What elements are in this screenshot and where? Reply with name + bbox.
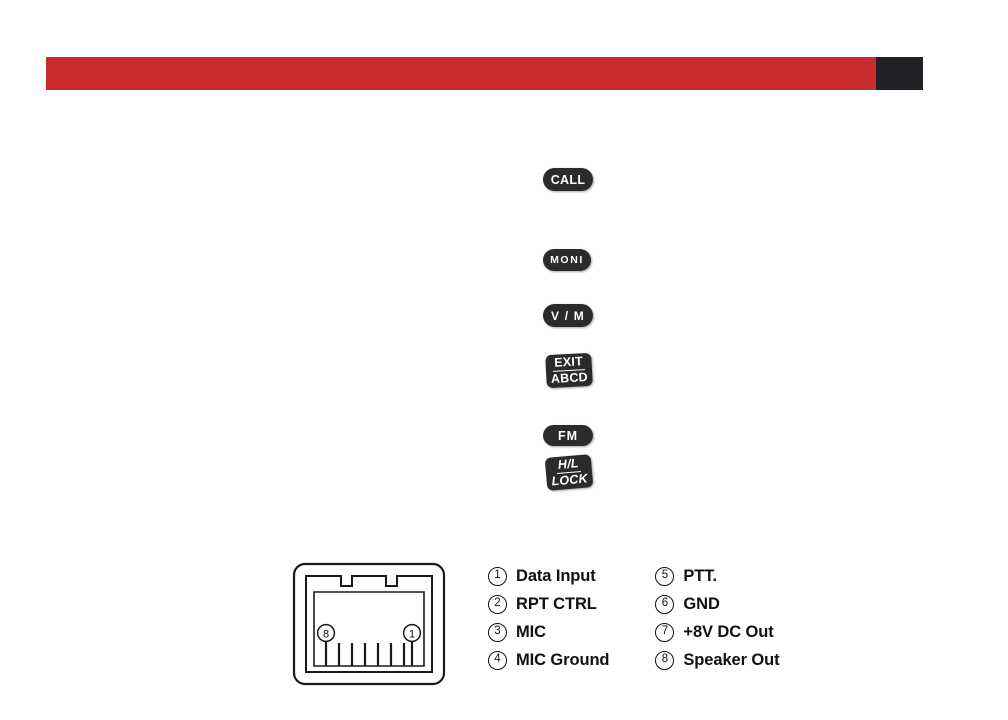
pin-label: +8V DC Out [683, 623, 773, 642]
key-vm-button[interactable]: V / M [543, 304, 593, 327]
rj45-pin-number-1: 1 [404, 625, 421, 642]
key-vm-label: V / M [551, 309, 585, 323]
key-lock-label: LOCK [551, 471, 588, 488]
pin-label: RPT CTRL [516, 595, 597, 614]
key-moni-button[interactable]: MONI [543, 249, 591, 271]
pin-label: MIC [516, 623, 546, 642]
pin-label: Speaker Out [683, 651, 779, 670]
pin-number-badge: 5 [655, 567, 674, 586]
pin-label: GND [683, 595, 719, 614]
pin-number-badge: 4 [488, 651, 507, 670]
rj45-connector-diagram: 8 1 [292, 562, 446, 686]
pin-legend-item: 7 +8V DC Out [655, 621, 779, 643]
header-dark-block [876, 57, 923, 90]
pin-label: PTT. [683, 567, 717, 586]
pin-legend-item: 8 Speaker Out [655, 649, 779, 671]
key-moni-label: MONI [550, 254, 584, 266]
pin-label: Data Input [516, 567, 596, 586]
pin-legend-left-column: 1 Data Input 2 RPT CTRL 3 MIC 4 MIC Grou… [488, 565, 609, 671]
pin-legend-item: 1 Data Input [488, 565, 609, 587]
key-abcd-label: ABCD [551, 370, 589, 386]
header-red-bar [46, 57, 876, 90]
pin-legend-item: 4 MIC Ground [488, 649, 609, 671]
rj45-pin-number-8: 8 [318, 625, 335, 642]
pin-number-badge: 8 [655, 651, 674, 670]
pin-number-badge: 3 [488, 623, 507, 642]
rj45-pin-1-text: 1 [409, 629, 415, 641]
key-hl-lock-button[interactable]: H/L LOCK [545, 454, 594, 491]
pin-number-badge: 2 [488, 595, 507, 614]
pin-legend-item: 6 GND [655, 593, 779, 615]
pin-legend: 1 Data Input 2 RPT CTRL 3 MIC 4 MIC Grou… [488, 565, 780, 671]
pin-number-badge: 1 [488, 567, 507, 586]
pin-number-badge: 7 [655, 623, 674, 642]
header-banner [46, 57, 923, 90]
key-call-label: CALL [551, 173, 586, 187]
pin-legend-item: 3 MIC [488, 621, 609, 643]
pin-legend-right-column: 5 PTT. 6 GND 7 +8V DC Out 8 Speaker Out [655, 565, 779, 671]
pin-legend-item: 5 PTT. [655, 565, 779, 587]
key-call-button[interactable]: CALL [543, 168, 593, 191]
pin-label: MIC Ground [516, 651, 609, 670]
key-exit-abcd-button[interactable]: EXIT ABCD [545, 353, 593, 388]
pin-number-badge: 6 [655, 595, 674, 614]
rj45-pin-8-text: 8 [323, 629, 329, 641]
key-fm-label: FM [558, 429, 578, 443]
key-fm-button[interactable]: FM [543, 425, 593, 446]
pin-legend-item: 2 RPT CTRL [488, 593, 609, 615]
